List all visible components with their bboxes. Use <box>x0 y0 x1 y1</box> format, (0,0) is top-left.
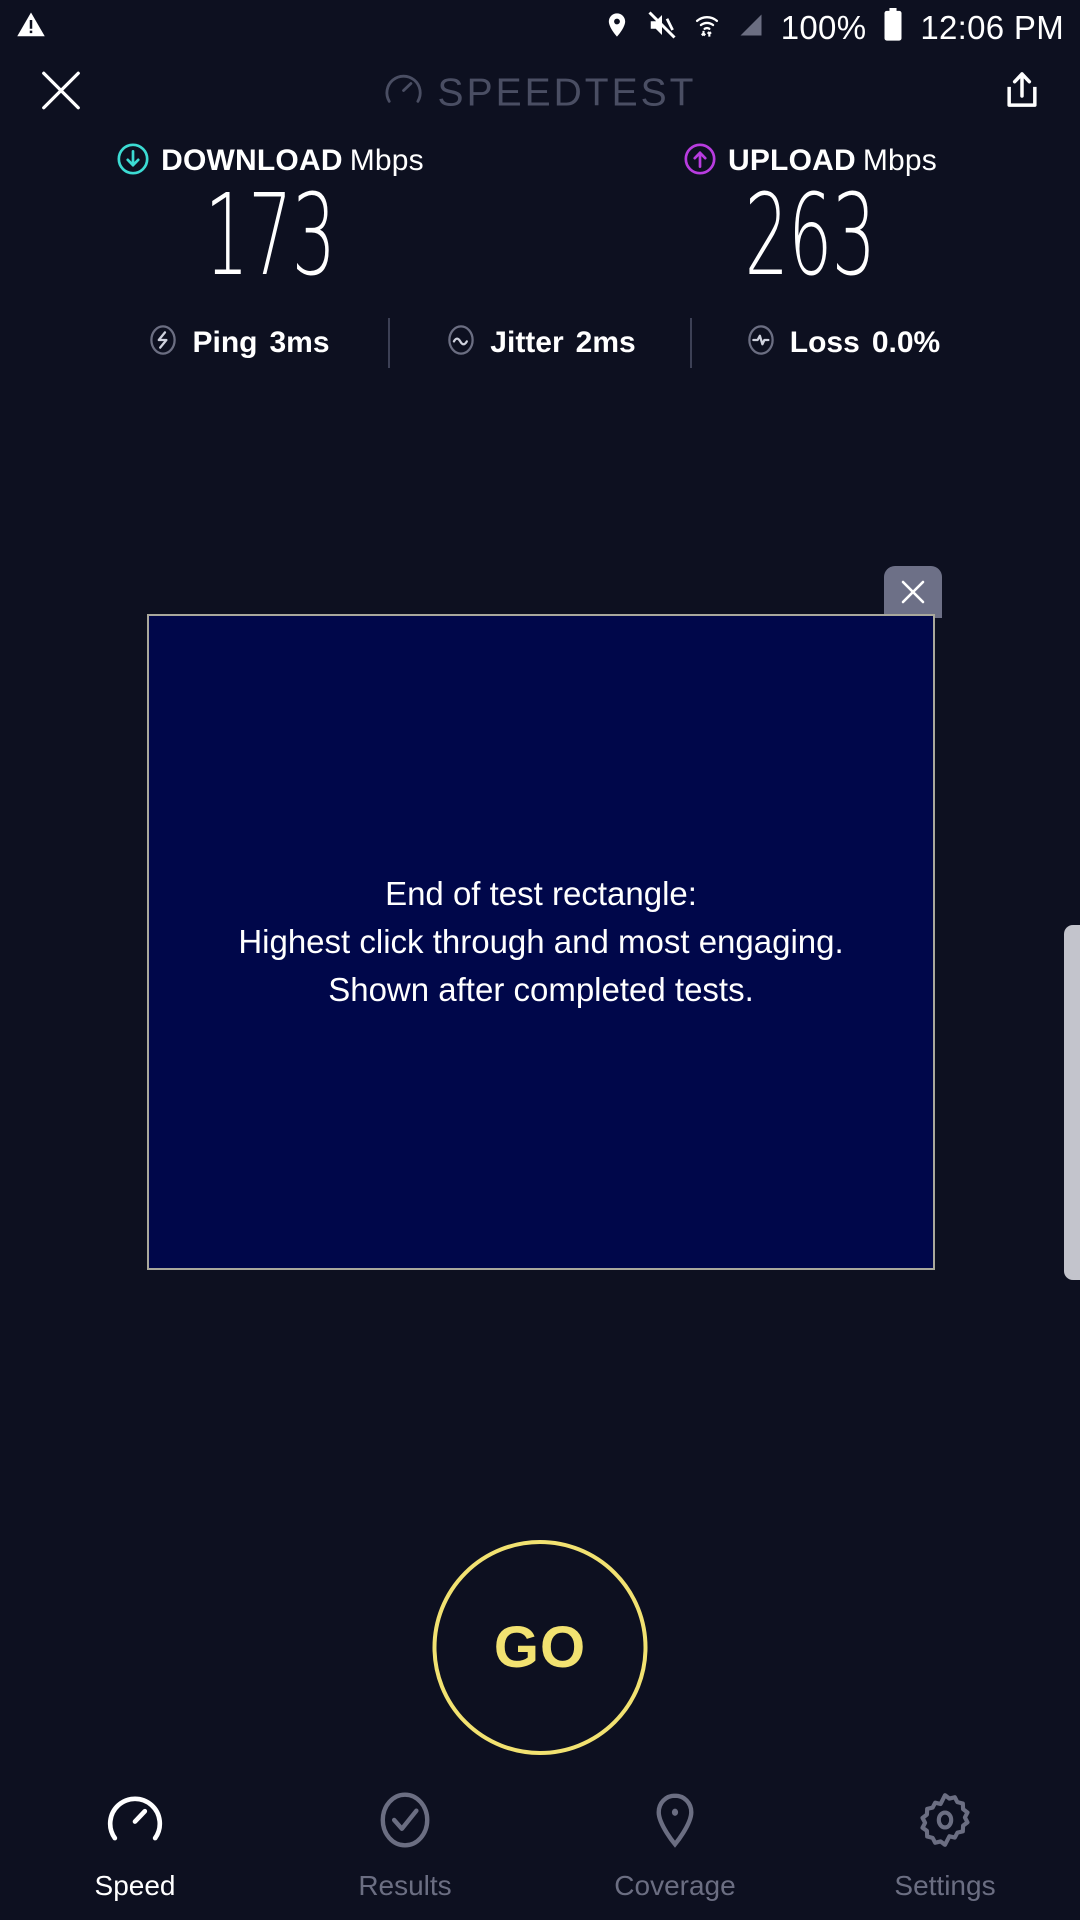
ad-close-button[interactable] <box>884 566 942 618</box>
share-icon[interactable] <box>1000 68 1044 119</box>
wifi-icon <box>693 11 721 44</box>
go-button-label: GO <box>494 1614 586 1681</box>
nav-item-settings[interactable]: Settings <box>810 1789 1080 1902</box>
results-panel: DOWNLOADMbps 173 UPLOADMbps 263 <box>0 140 1080 368</box>
nav-item-results[interactable]: Results <box>270 1789 540 1902</box>
close-icon[interactable] <box>38 68 84 119</box>
loss-label: Loss <box>790 326 860 360</box>
ad-line-2: Highest click through and most engaging. <box>238 918 843 966</box>
ping-icon <box>146 323 180 362</box>
mute-icon <box>647 10 677 45</box>
loss-icon <box>744 323 778 362</box>
location-pin-icon <box>603 11 631 44</box>
upload-metric: UPLOADMbps 263 <box>540 140 1080 296</box>
ping-value: 3ms <box>269 326 329 360</box>
nav-label-coverage: Coverage <box>614 1870 735 1902</box>
download-value: 173 <box>103 178 438 296</box>
ping-label: Ping <box>192 326 257 360</box>
close-icon <box>898 577 928 607</box>
cell-signal-icon <box>737 11 765 44</box>
nav-item-speed[interactable]: Speed <box>0 1789 270 1902</box>
battery-full-icon <box>882 8 904 47</box>
loss-stat: Loss 0.0% <box>692 323 992 362</box>
status-bar: 100% 12:06 PM <box>0 0 1080 55</box>
app-header: SPEEDTEST <box>0 58 1080 128</box>
ad-text: End of test rectangle: Highest click thr… <box>238 870 843 1014</box>
ping-stat: Ping 3ms <box>88 323 388 362</box>
status-bar-left <box>16 10 46 45</box>
upload-arrow-icon <box>683 142 717 181</box>
nav-label-results: Results <box>358 1870 451 1902</box>
warning-triangle-icon <box>16 10 46 45</box>
connection-stats-row: Ping 3ms Jitter 2ms Loss 0.0 <box>0 318 1080 368</box>
brand-logo: SPEEDTEST <box>384 71 697 116</box>
jitter-value: 2ms <box>576 326 636 360</box>
go-button[interactable]: GO <box>433 1540 648 1755</box>
speedometer-icon <box>384 71 424 116</box>
check-circle-icon <box>374 1789 436 1856</box>
status-bar-right: 100% 12:06 PM <box>603 8 1064 47</box>
nav-label-settings: Settings <box>894 1870 995 1902</box>
battery-percent: 100% <box>781 9 867 47</box>
download-metric: DOWNLOADMbps 173 <box>0 140 540 296</box>
upload-value: 263 <box>643 178 978 296</box>
jitter-stat: Jitter 2ms <box>390 323 690 362</box>
bottom-navigation: Speed Results Coverage Settings <box>0 1775 1080 1920</box>
jitter-icon <box>444 323 478 362</box>
loss-value: 0.0% <box>872 326 940 360</box>
gear-icon <box>914 1789 976 1856</box>
nav-item-coverage[interactable]: Coverage <box>540 1789 810 1902</box>
map-pin-icon <box>644 1789 706 1856</box>
nav-label-speed: Speed <box>95 1870 176 1902</box>
ad-line-1: End of test rectangle: <box>238 870 843 918</box>
jitter-label: Jitter <box>490 326 563 360</box>
metrics-row: DOWNLOADMbps 173 UPLOADMbps 263 <box>0 140 1080 296</box>
speedometer-icon <box>104 1789 166 1856</box>
download-arrow-icon <box>116 142 150 181</box>
scrollbar[interactable] <box>1064 925 1080 1280</box>
ad-line-3: Shown after completed tests. <box>238 966 843 1014</box>
status-bar-clock: 12:06 PM <box>920 9 1064 47</box>
advertisement-banner[interactable]: End of test rectangle: Highest click thr… <box>147 614 935 1270</box>
page-title: SPEEDTEST <box>438 71 697 115</box>
